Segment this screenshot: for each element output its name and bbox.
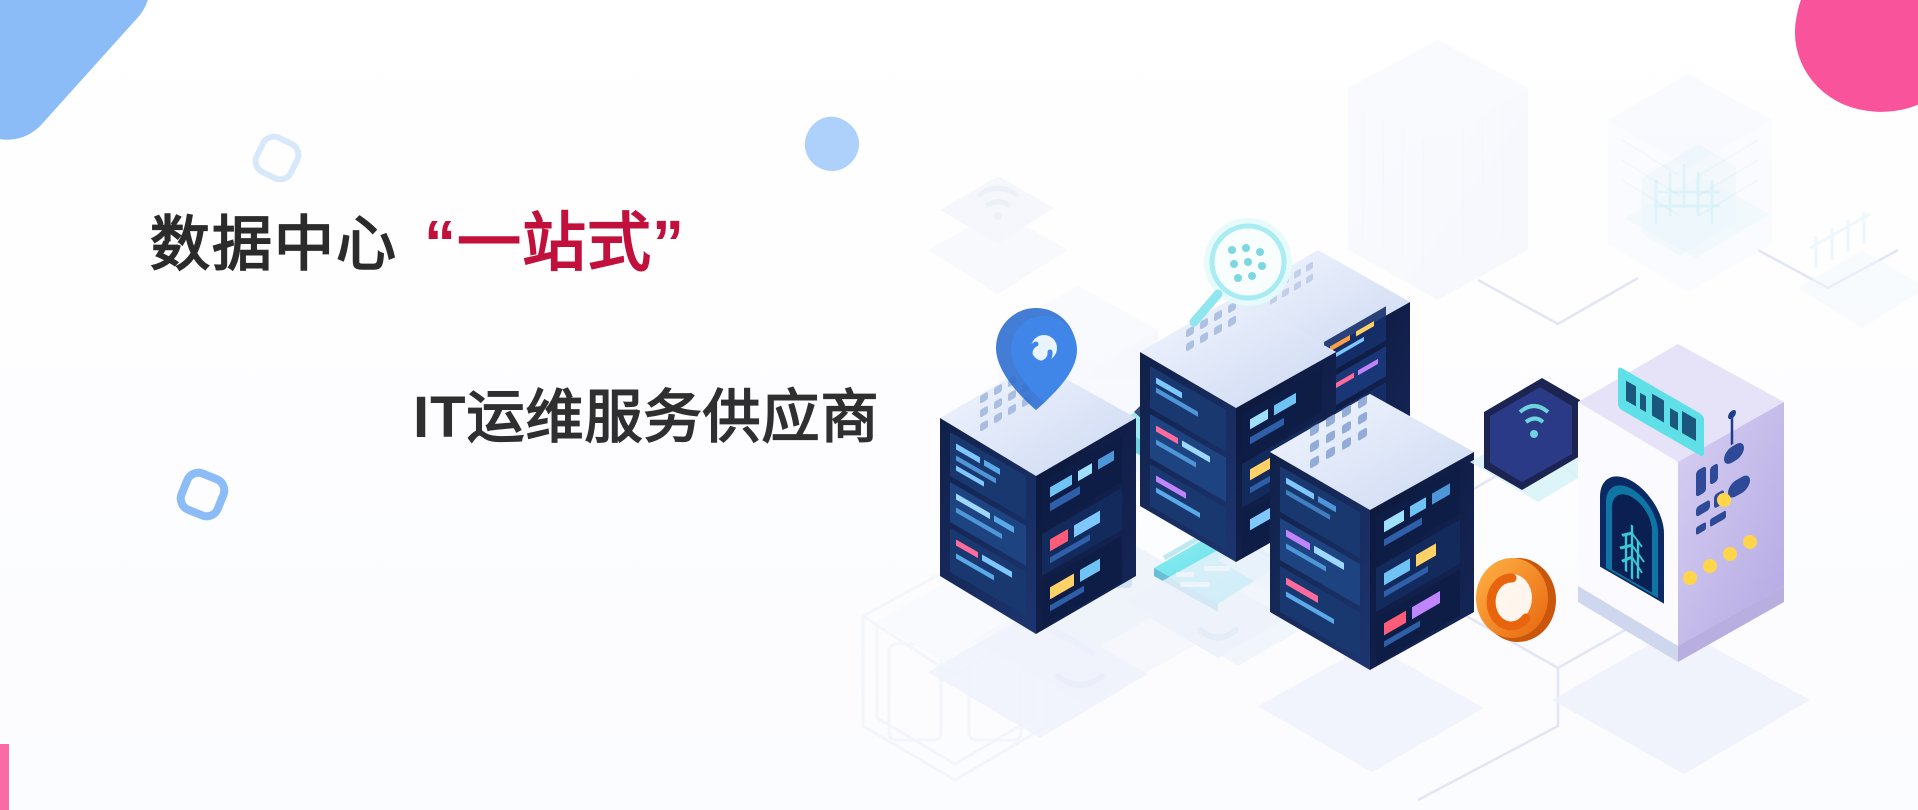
headline-primary: 数据中心 [150, 196, 398, 283]
headline-block: 数据中心 “一站式” IT运维服务供应商 [0, 0, 1040, 810]
hero-banner: 数据中心 “一站式” IT运维服务供应商 [0, 0, 1918, 810]
server-tower-right [1552, 344, 1810, 774]
server-rack-front-left [928, 362, 1148, 738]
isometric-data-center-illustration [918, 0, 1918, 810]
background-ghost-panel [1798, 212, 1918, 328]
shield-monitor-icon [928, 176, 1068, 294]
background-ghost-rack [1608, 74, 1772, 292]
headline: 数据中心 “一站式” [150, 192, 685, 284]
headline-accent: “一站式” [424, 192, 685, 284]
server-rack-front-right [1258, 394, 1484, 772]
subheadline: IT运维服务供应商 [413, 370, 880, 454]
